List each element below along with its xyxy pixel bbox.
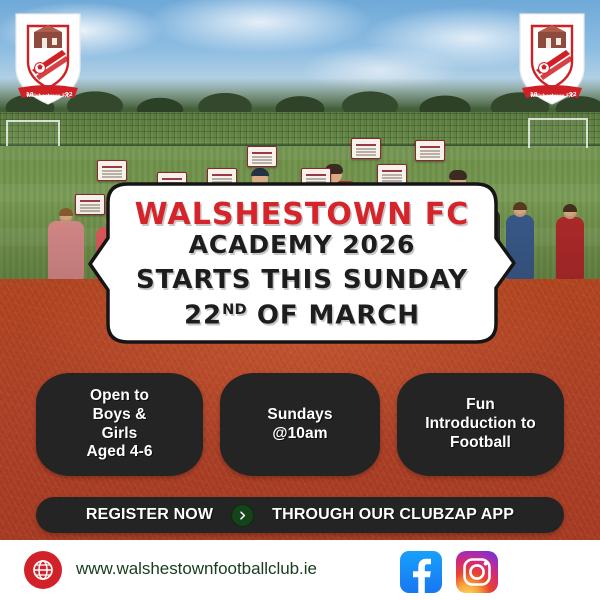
website-url[interactable]: www.walshestownfootballclub.ie bbox=[76, 559, 317, 579]
headline-banner: WALSHESTOWN FC ACADEMY 2026 STARTS THIS … bbox=[86, 178, 518, 348]
chevron-right-icon[interactable] bbox=[231, 504, 254, 527]
headline-academy: ACADEMY 2026 bbox=[189, 232, 416, 259]
pill-line: Boys & bbox=[86, 406, 152, 425]
pill-schedule: Sundays @10am bbox=[220, 373, 380, 476]
club-crest-left-icon: 19 92 Walshestown F.C bbox=[12, 10, 84, 108]
pill-line: Introduction to bbox=[425, 415, 536, 434]
facebook-icon[interactable] bbox=[400, 551, 442, 593]
date-number: 22 bbox=[184, 301, 222, 331]
footer: www.walshestownfootballclub.ie bbox=[0, 540, 600, 600]
pill-description: Fun Introduction to Football bbox=[397, 373, 564, 476]
pill-line: Open to bbox=[86, 387, 152, 406]
pill-line: Sundays bbox=[267, 406, 332, 425]
pill-line: @10am bbox=[267, 425, 332, 444]
headline-date: 22ND OF MARCH bbox=[184, 302, 420, 330]
info-pills: Open to Boys & Girls Aged 4-6 Sundays @1… bbox=[36, 373, 564, 476]
club-crest-right-icon: 19 92 Walshestown F.C bbox=[516, 10, 588, 108]
pill-line: Fun bbox=[425, 396, 536, 415]
headline-starts: STARTS THIS SUNDAY bbox=[136, 267, 468, 295]
pill-line: Aged 4-6 bbox=[86, 443, 152, 462]
pill-line: Girls bbox=[86, 425, 152, 444]
svg-text:Walshestown F.C: Walshestown F.C bbox=[26, 93, 70, 99]
register-now-bar[interactable]: REGISTER NOW THROUGH OUR CLUBZAP APP bbox=[36, 497, 564, 533]
instagram-icon[interactable] bbox=[456, 551, 498, 593]
register-app-label: THROUGH OUR CLUBZAP APP bbox=[272, 506, 514, 524]
pill-line: Football bbox=[425, 434, 536, 453]
svg-text:Walshestown F.C: Walshestown F.C bbox=[530, 93, 574, 99]
poster-root: WALSHESTOWN FC ACADEMY 2026 STARTS THIS … bbox=[0, 0, 600, 600]
pill-age-group: Open to Boys & Girls Aged 4-6 bbox=[36, 373, 203, 476]
social-links bbox=[400, 551, 498, 593]
date-ordinal: ND bbox=[222, 301, 247, 318]
register-now-label: REGISTER NOW bbox=[86, 506, 213, 524]
globe-icon bbox=[24, 551, 62, 589]
date-month: OF MARCH bbox=[257, 301, 420, 331]
headline-club: WALSHESTOWN FC bbox=[135, 199, 470, 231]
